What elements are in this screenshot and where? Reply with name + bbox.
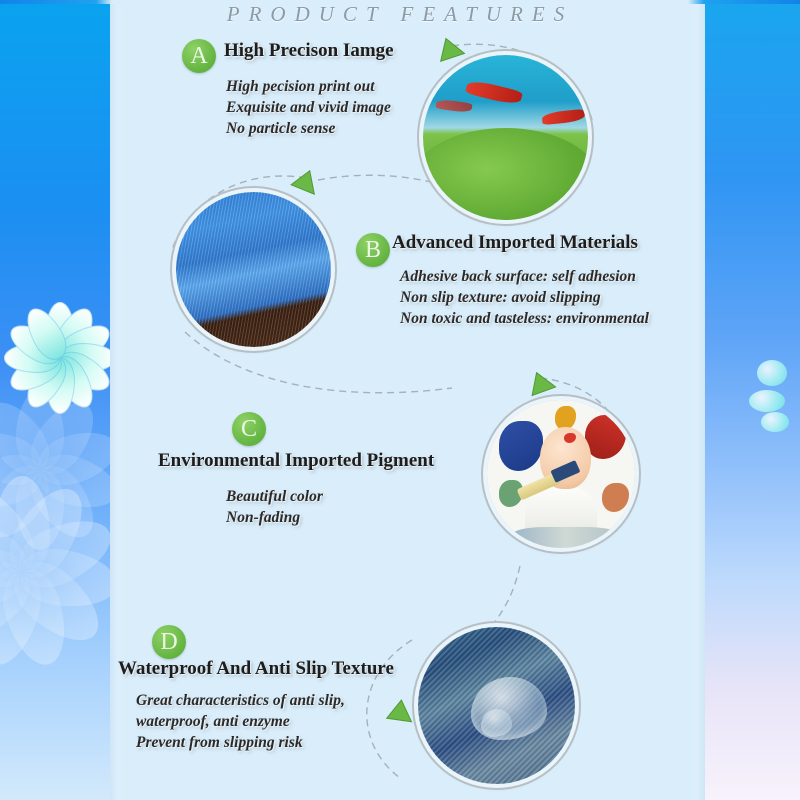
feature-badge-a: A [182, 39, 216, 73]
arrow-marker-b [291, 166, 322, 194]
feature-heading-b: Advanced Imported Materials [392, 232, 638, 254]
feature-badge-c: C [232, 412, 266, 446]
feature-heading-d: Waterproof And Anti Slip Texture [118, 658, 394, 680]
feature-badge-b: B [356, 233, 390, 267]
feature-c-line-1: Beautiful color [226, 486, 323, 507]
photo-blue-fabric [176, 192, 331, 347]
feature-body-a: High pecision print out Exquisite and vi… [226, 76, 391, 139]
feature-a-line-1: High pecision print out [226, 76, 391, 97]
feature-heading-c: Environmental Imported Pigment [158, 450, 434, 472]
feature-d-line-3: Prevent from slipping risk [136, 732, 345, 753]
photo-koi-pond [423, 55, 588, 220]
feature-body-d: Great characteristics of anti slip, wate… [136, 690, 345, 753]
feature-heading-a: High Precison Iamge [224, 40, 394, 62]
arrow-marker-a [434, 34, 464, 61]
right-cyan-blob-3 [761, 412, 789, 432]
poster-title: PRODUCT FEATURES [0, 2, 800, 27]
left-decorative-band [0, 0, 110, 800]
feature-body-b: Adhesive back surface: self adhesion Non… [400, 266, 649, 329]
feature-d-line-1: Great characteristics of anti slip, [136, 690, 345, 711]
feature-b-line-1: Adhesive back surface: self adhesion [400, 266, 649, 287]
feature-b-line-3: Non toxic and tasteless: environmental [400, 308, 649, 329]
feature-body-c: Beautiful color Non-fading [226, 486, 323, 528]
product-features-poster: PRODUCT FEATURES A High Precison Iamge H… [0, 0, 800, 800]
feature-d-line-2: waterproof, anti enzyme [136, 711, 345, 732]
photo-water-texture [418, 627, 575, 784]
arrow-marker-c [525, 368, 555, 395]
feature-b-line-2: Non slip texture: avoid slipping [400, 287, 649, 308]
photo-painting-baby [487, 400, 635, 548]
right-cyan-blob-1 [757, 360, 787, 386]
feature-badge-d: D [152, 625, 186, 659]
right-decorative-band [705, 0, 800, 800]
feature-a-line-3: No particle sense [226, 118, 391, 139]
feature-c-line-2: Non-fading [226, 507, 323, 528]
arrow-marker-d [387, 698, 415, 721]
right-band-edge [691, 0, 705, 800]
feature-a-line-2: Exquisite and vivid image [226, 97, 391, 118]
right-cyan-blob-2 [749, 390, 785, 412]
left-band-edge [110, 0, 124, 800]
